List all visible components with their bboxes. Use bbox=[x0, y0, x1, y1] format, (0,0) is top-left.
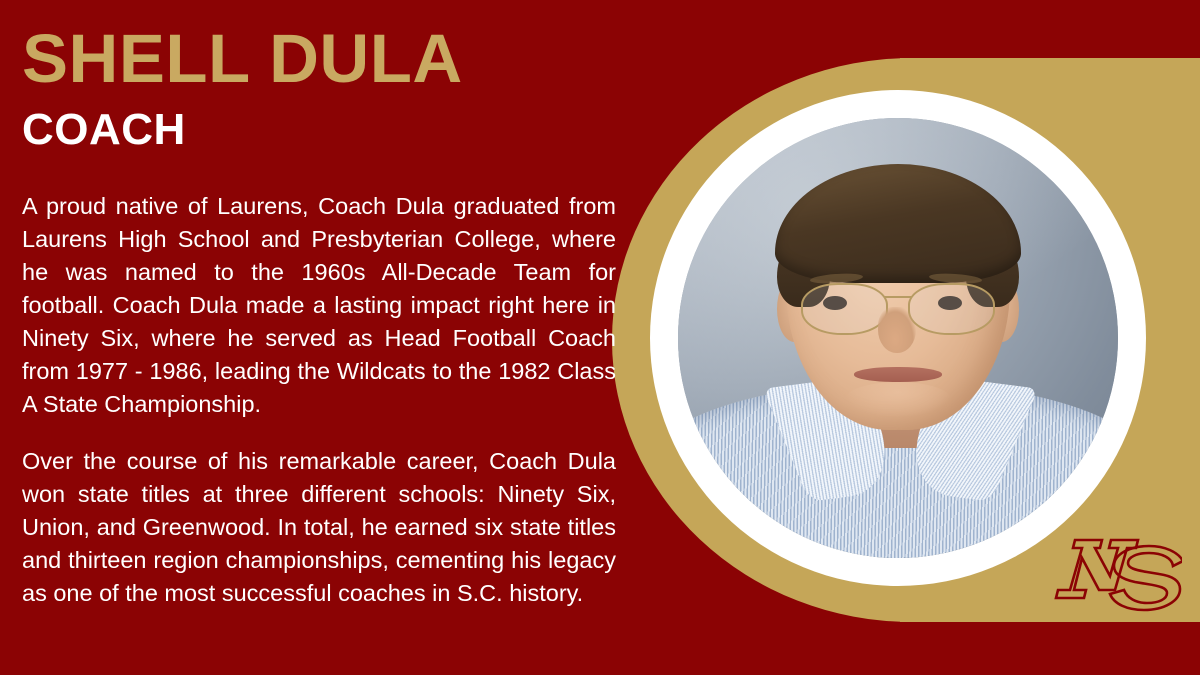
eyeglass-lens-right bbox=[908, 283, 995, 335]
portrait-nose bbox=[878, 307, 915, 353]
page-title: SHELL DULA bbox=[22, 24, 463, 93]
eyeglass-bridge bbox=[884, 296, 911, 298]
ns-logo-icon bbox=[1052, 518, 1182, 618]
page-subtitle: COACH bbox=[22, 108, 186, 152]
biography-paragraph-1: A proud native of Laurens, Coach Dula gr… bbox=[22, 190, 616, 421]
portrait-photo bbox=[678, 118, 1118, 558]
biography-text: A proud native of Laurens, Coach Dula gr… bbox=[22, 190, 616, 610]
ns-monogram-logo bbox=[1052, 518, 1182, 618]
eyeglass-lens-left bbox=[801, 283, 888, 335]
portrait-chin bbox=[845, 382, 951, 417]
biography-paragraph-2: Over the course of his remarkable career… bbox=[22, 445, 616, 610]
slide-canvas: SHELL DULA COACH A proud native of Laure… bbox=[0, 0, 1200, 675]
portrait-mouth bbox=[854, 367, 942, 382]
